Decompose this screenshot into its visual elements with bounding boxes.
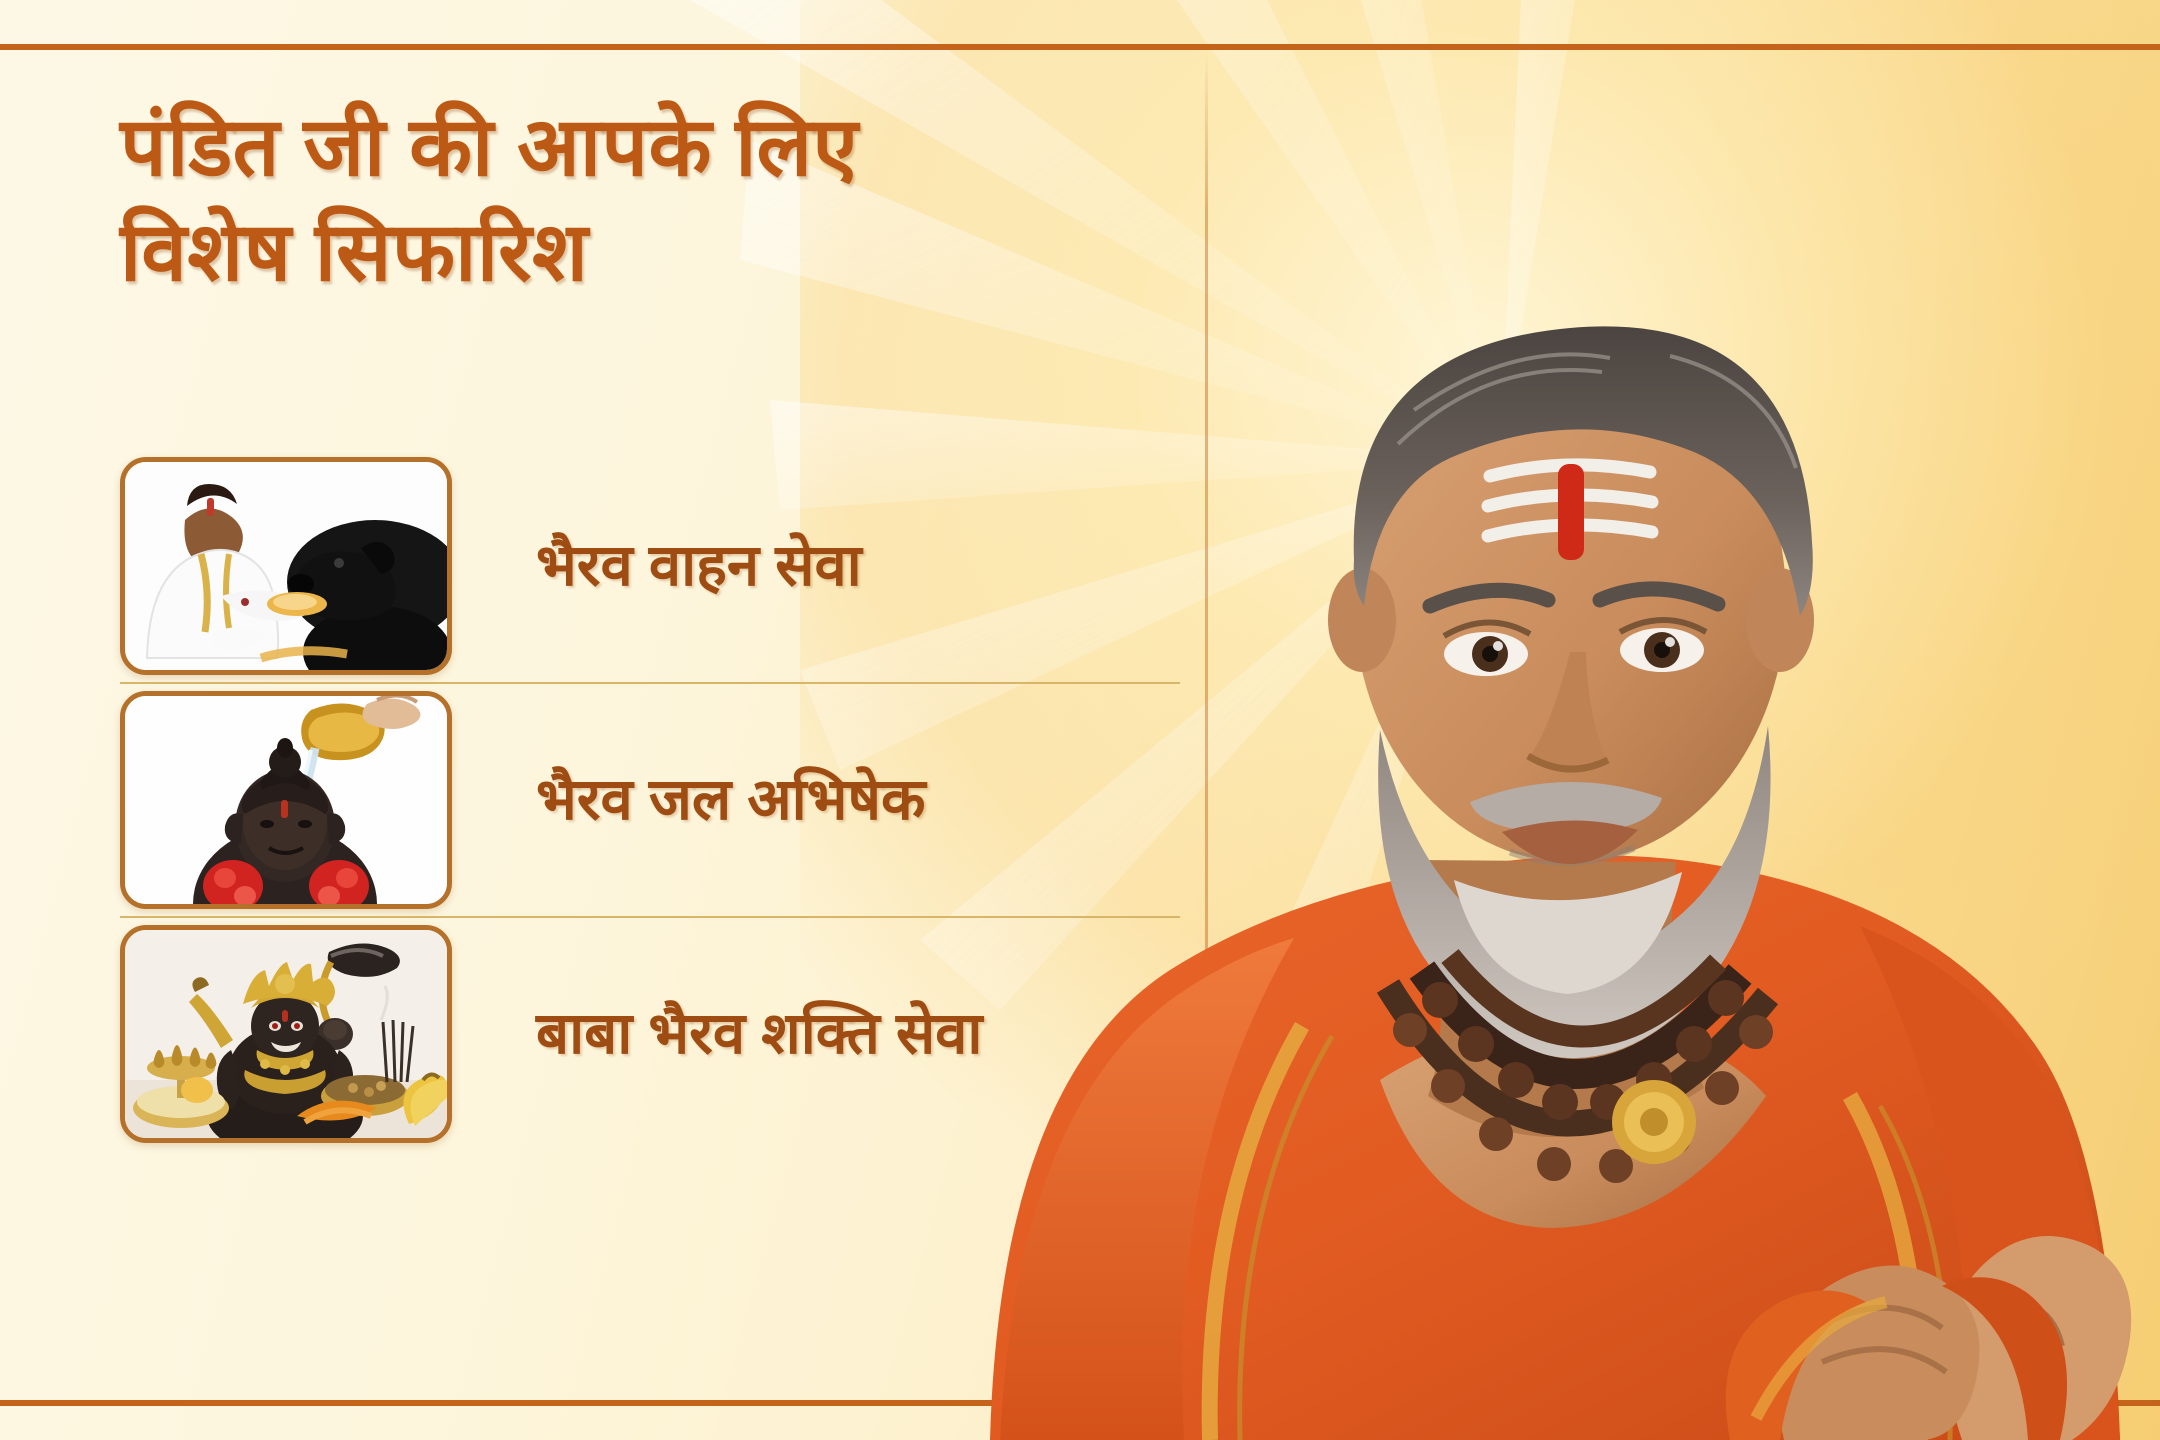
headline-line-1: पंडित जी की आपके लिए (120, 102, 858, 193)
promo-banner: पंडित जी की आपके लिए विशेष सिफारिश (0, 0, 2160, 1440)
service-label: भैरव जल अभिषेक (536, 767, 926, 834)
service-thumbnail-shakti-seva[interactable] (120, 925, 452, 1143)
service-thumbnail-dog-feeding[interactable] (120, 457, 452, 675)
service-thumbnail-jal-abhishek[interactable] (120, 691, 452, 909)
pandit-ji-portrait (910, 40, 2160, 1440)
service-label: भैरव वाहन सेवा (536, 533, 862, 600)
